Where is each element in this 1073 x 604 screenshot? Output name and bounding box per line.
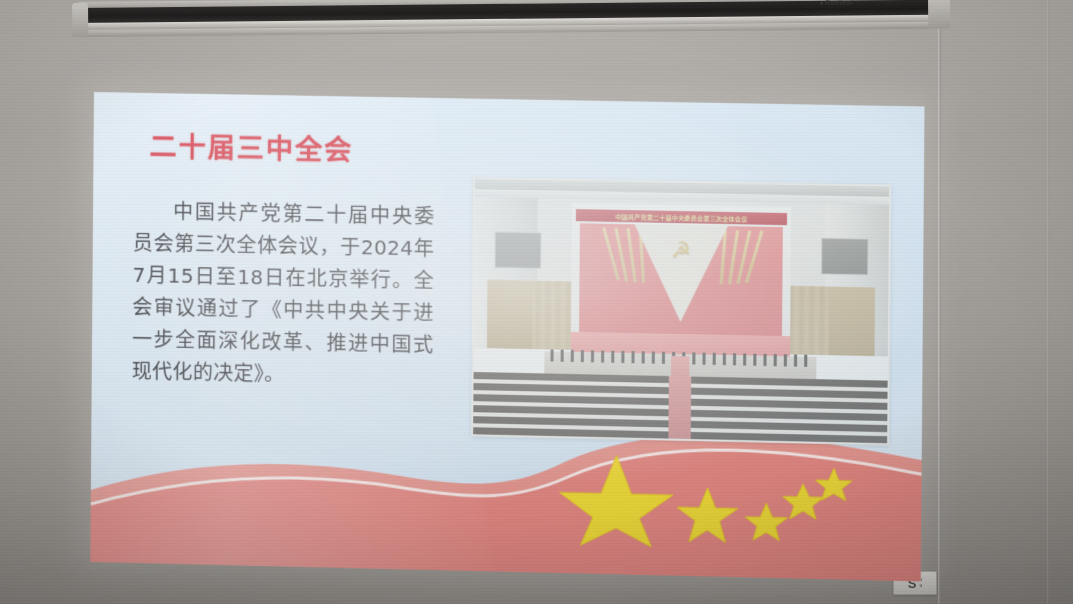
photo-microphone	[723, 353, 726, 365]
photo-microphone	[743, 353, 746, 365]
star-small-2	[783, 483, 824, 519]
housing-end-cap-right	[928, 0, 950, 29]
photo-vent-left	[495, 232, 542, 269]
slide-body-text: 中国共产党第二十届中央委员会第三次全体会议，于2024年7月15日至18日在北京…	[132, 195, 435, 393]
presentation-slide: 二十届三中全会 中国共产党第二十届中央委员会第三次全体会议，于2024年7月15…	[90, 92, 924, 581]
photo-microphone	[804, 355, 807, 367]
screenshot-scene: Redleaf S u u 二十届三中全会 中国共产党第二十届中央委员会第三次全…	[0, 0, 1073, 604]
photo-microphone	[550, 349, 553, 361]
housing-end-cap-left	[72, 3, 88, 37]
photo-microphone	[652, 352, 655, 364]
photo-door-right	[828, 287, 875, 357]
photo-microphone	[591, 350, 594, 362]
star-medium	[677, 487, 738, 543]
photo-microphone	[692, 352, 695, 364]
star-large	[559, 454, 673, 547]
projected-slide-area: 二十届三中全会 中国共产党第二十届中央委员会第三次全体会议，于2024年7月15…	[90, 92, 924, 581]
sticker-mini-line-2: u	[919, 584, 922, 589]
photo-microphone	[702, 353, 705, 365]
photo-microphone	[662, 352, 665, 364]
star-small-1	[745, 503, 788, 541]
photo-microphone	[621, 351, 624, 363]
decorative-flag-stars	[553, 448, 869, 552]
slide-photo-meeting-hall: 中国共产党第二十届中央委员会第三次全体会议 ☭	[471, 177, 891, 445]
photo-door-left	[487, 280, 534, 349]
housing-brand-logo: Redleaf	[820, 0, 853, 7]
photo-aisle-carpet	[668, 376, 691, 439]
photo-microphone	[784, 354, 787, 366]
photo-microphone	[561, 350, 564, 362]
photo-microphone	[611, 351, 614, 363]
photo-red-flag-backdrop: ☭	[579, 223, 783, 336]
photo-microphone	[713, 353, 716, 365]
wall-seam-far-right	[1047, 0, 1050, 604]
photo-microphone	[774, 354, 777, 366]
party-emblem-icon: ☭	[671, 239, 691, 262]
brand-text: Redleaf	[825, 0, 853, 7]
photo-vent-right	[821, 238, 868, 275]
photo-microphone	[763, 354, 766, 366]
photo-microphone	[753, 354, 756, 366]
photo-microphone	[733, 353, 736, 365]
wall-seam-right	[938, 0, 942, 604]
photo-microphone	[642, 351, 645, 363]
photo-aisle-carpet-upper	[671, 356, 689, 379]
slide-title: 二十届三中全会	[149, 125, 353, 168]
photo-microphone	[571, 350, 574, 362]
photo-microphone	[794, 354, 797, 366]
photo-microphone	[631, 351, 634, 363]
photo-banner-text: 中国共产党第二十届中央委员会第三次全体会议	[615, 211, 747, 223]
photo-microphone	[581, 350, 584, 362]
photo-microphone	[601, 350, 604, 362]
star-small-3	[815, 468, 852, 501]
